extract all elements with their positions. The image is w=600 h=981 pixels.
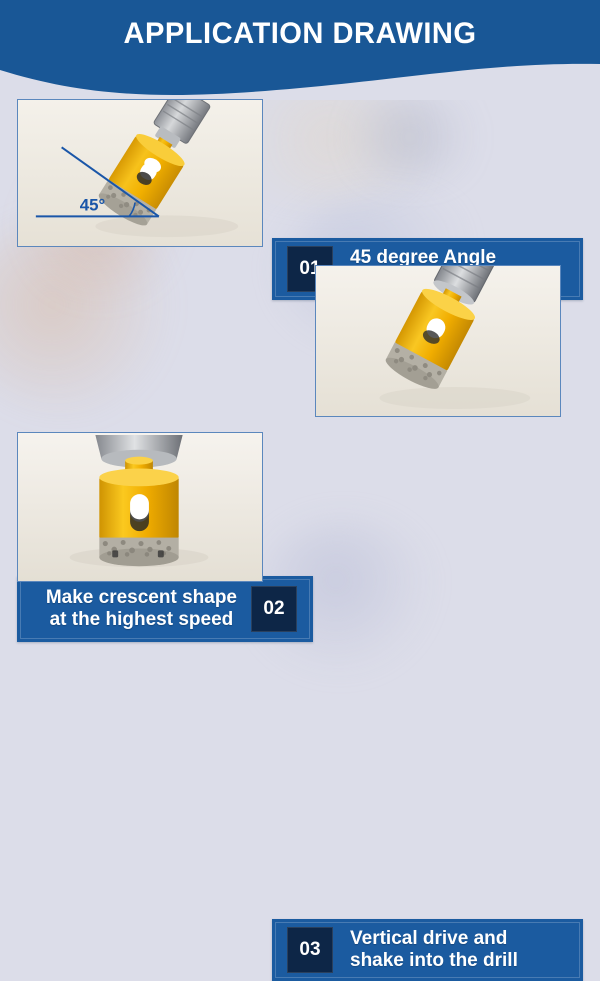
step-3-number-badge: 03 — [287, 927, 333, 973]
angle-label-45: 45° — [80, 196, 105, 215]
drill-bit-crescent-illustration — [316, 266, 560, 416]
step-row-1: 45° 01 45 degree Angle bevel positioning — [0, 99, 600, 247]
step-2-callout[interactable]: Make crescent shape at the highest speed… — [17, 576, 313, 642]
step-3-photo — [17, 432, 263, 582]
step-row-2: Make crescent shape at the highest speed… — [0, 265, 600, 417]
drill-bit-angled-45-illustration: 45° — [18, 100, 262, 246]
step-2-number-badge: 02 — [251, 586, 297, 632]
step-1-photo: 45° — [17, 99, 263, 247]
step-3-callout[interactable]: 03 Vertical drive and shake into the dri… — [272, 919, 583, 981]
page-header: APPLICATION DRAWING — [0, 0, 600, 100]
page-title: APPLICATION DRAWING — [9, 17, 591, 51]
step-2-photo — [315, 265, 561, 417]
step-3-text: Vertical drive and shake into the drill — [350, 928, 518, 973]
step-2-text: Make crescent shape at the highest speed — [46, 587, 237, 632]
step-row-3: 03 Vertical drive and shake into the dri… — [0, 432, 600, 582]
drill-bit-vertical-illustration — [18, 433, 262, 581]
